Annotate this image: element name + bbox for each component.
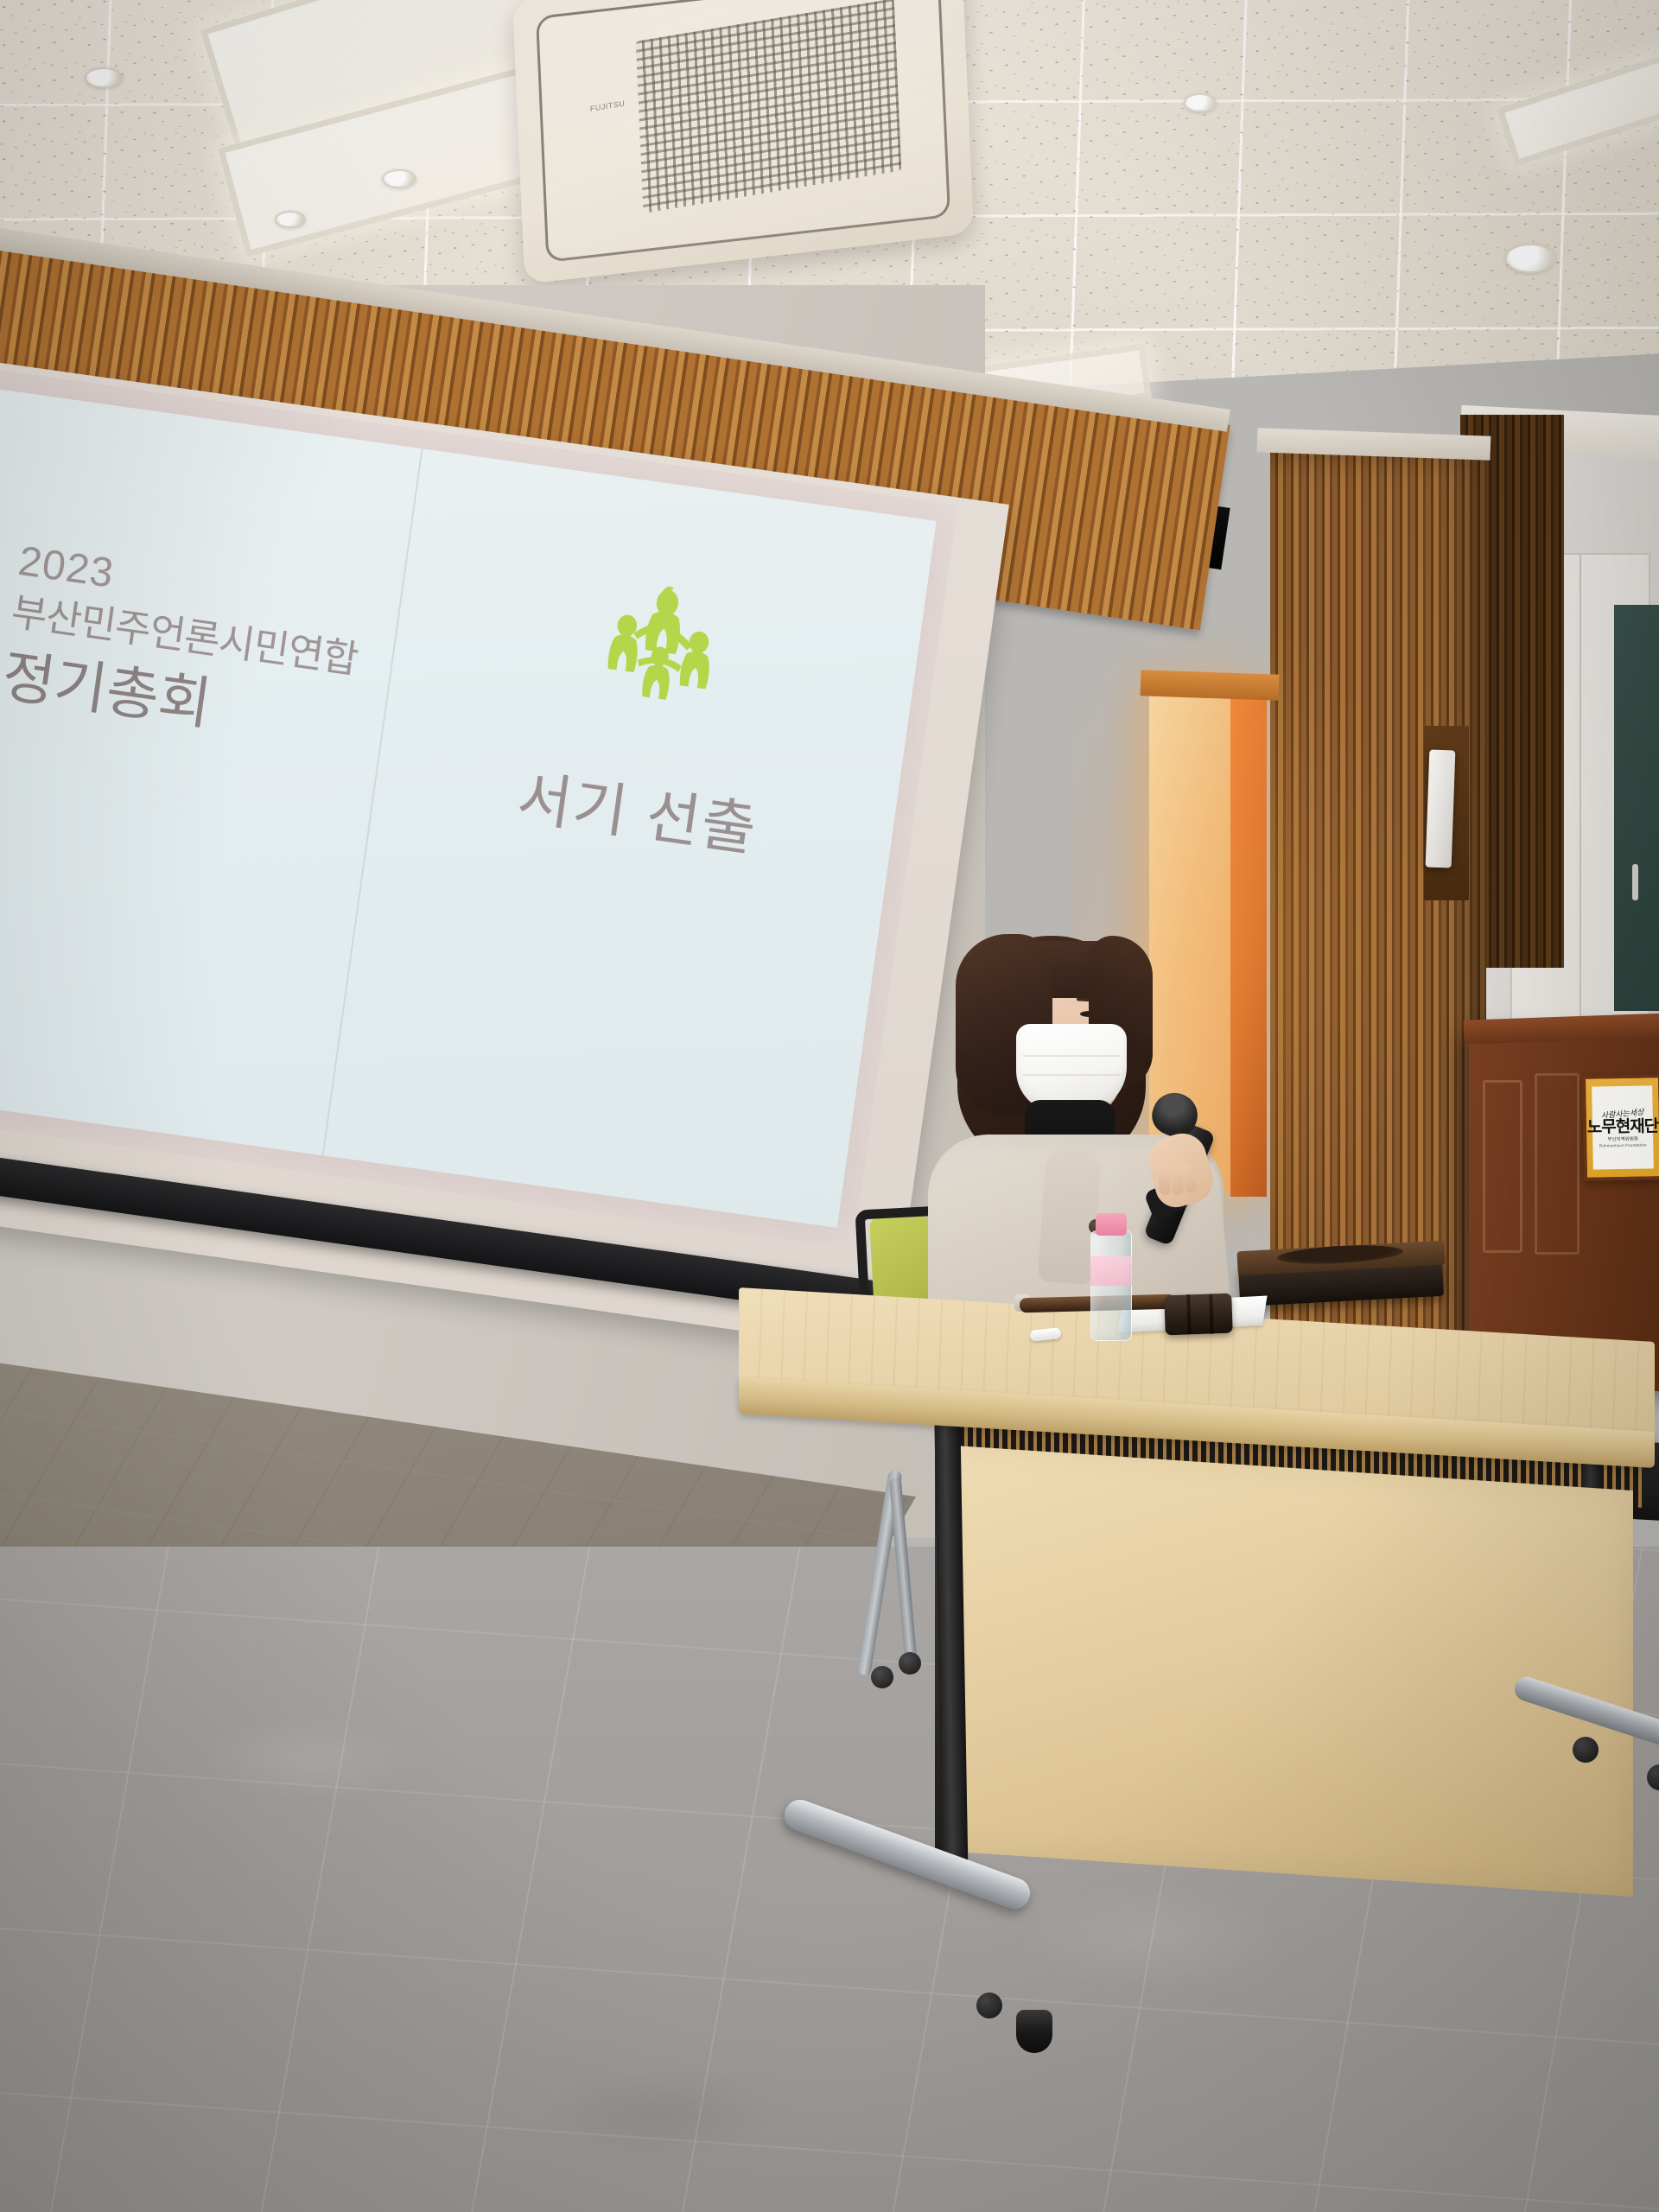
smoke-detector-1 xyxy=(1505,244,1555,273)
downlight-3 xyxy=(275,211,306,228)
gavel-head xyxy=(1164,1294,1233,1336)
slide-canvas: 2023 부산민주언론시민연합 정기총회 xyxy=(0,385,937,1228)
dark-window-panel xyxy=(1614,605,1659,1011)
table-caster-front xyxy=(1016,2010,1052,2053)
water-bottle xyxy=(1090,1230,1132,1341)
slide-logo-block: 서기 선출 xyxy=(418,555,883,881)
podium-panel-right xyxy=(1535,1073,1580,1255)
mask-pleat-2 xyxy=(1023,1074,1120,1076)
sign-card: 사람사는세상 노무현재단 부산지역위원회 Rohmoohyun Foundati… xyxy=(1592,1085,1654,1169)
presentation-slide: 2023 부산민주언론시민연합 정기총회 xyxy=(0,363,958,1249)
table-caster-front-wheel xyxy=(976,1993,1002,2018)
sign-english-line: Rohmoohyun Foundation xyxy=(1599,1143,1647,1148)
water-bottle-label xyxy=(1090,1256,1132,1286)
podium-foundation-sign: 사람사는세상 노무현재단 부산지역위원회 Rohmoohyun Foundati… xyxy=(1582,1074,1659,1181)
sign-sub-line: 부산지역위원회 xyxy=(1607,1135,1638,1143)
slide-text-block: 2023 부산민주언론시민연합 정기총회 xyxy=(0,537,368,759)
podium-panel-left xyxy=(1483,1080,1522,1253)
downlight-7 xyxy=(1184,93,1217,112)
slide-subtitle: 서기 선출 xyxy=(418,735,858,880)
conference-room-scene: FUJITSU 2023 부산민주언론시민연합 정기총회 xyxy=(0,0,1659,2212)
green-people-group-icon xyxy=(588,575,734,714)
slide-divider-line xyxy=(321,448,423,1155)
face-mask xyxy=(1016,1024,1127,1112)
water-bottle-cap xyxy=(1096,1213,1127,1236)
chair-caster-1 xyxy=(871,1666,893,1688)
table-caster-back-1 xyxy=(1573,1737,1599,1763)
window-handle[interactable] xyxy=(1632,864,1638,900)
downlight-1 xyxy=(85,67,123,88)
table-modesty-panel xyxy=(942,1445,1633,1897)
alcove-header xyxy=(1141,670,1280,701)
wood-slat-feature-wall xyxy=(1270,449,1486,1365)
downlight-2 xyxy=(382,169,416,188)
wall-speaker xyxy=(1426,750,1456,868)
door-center-split xyxy=(1580,555,1581,1087)
mask-pleat-1 xyxy=(1023,1055,1120,1057)
chair-caster-2 xyxy=(899,1652,921,1675)
sign-main-line: 노무현재단 xyxy=(1587,1119,1659,1135)
